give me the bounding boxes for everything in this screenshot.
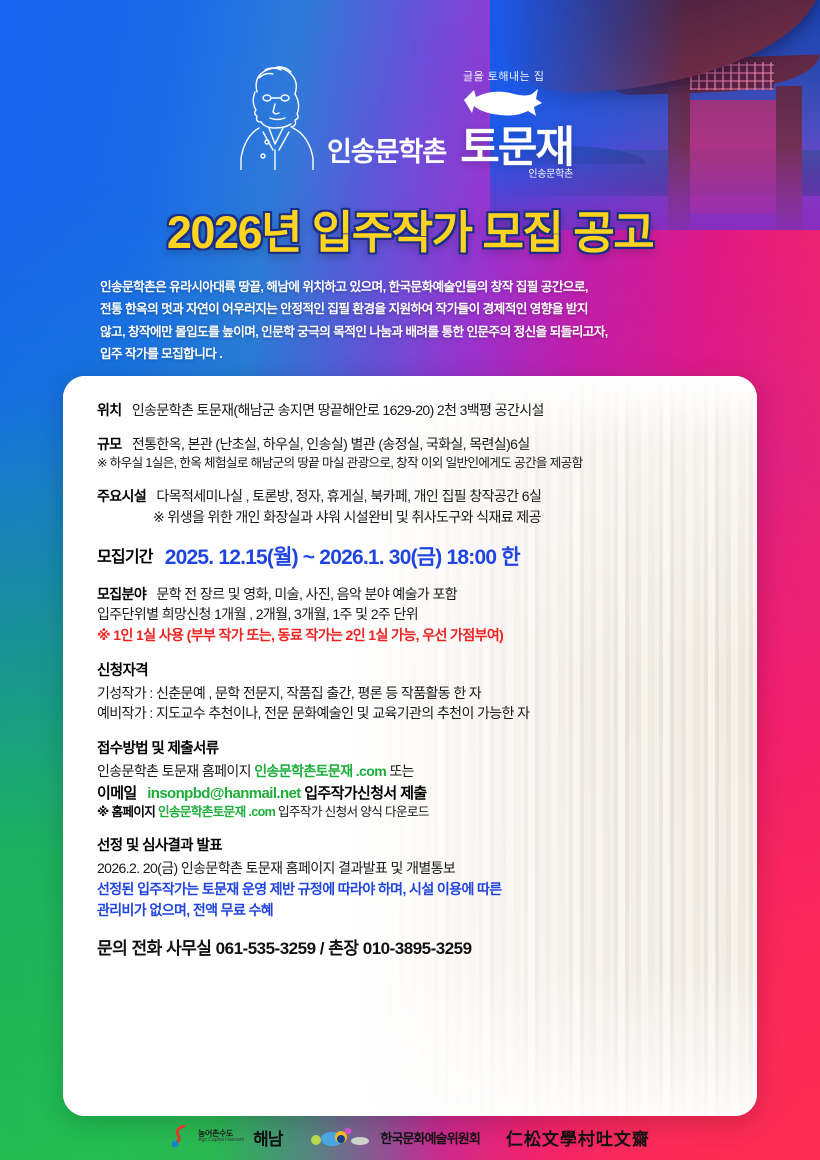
- section-result: 선정 및 심사결과 발표 2026.2. 20(금) 인송문학촌 토문재 홈페이…: [97, 834, 723, 920]
- haenam-text: 농어촌수도 Agri Capital Haenam: [198, 1130, 244, 1143]
- section-period: 모집기간 2025. 12.15(월) ~ 2026.1. 30(금) 18:0…: [97, 541, 723, 571]
- result-blue-line-2: 관리비가 없으며, 전액 무료 수혜: [97, 900, 723, 921]
- field-unit-line: 입주단위별 희망신청 1개월 , 2개월, 3개월, 1주 및 2주 단위: [97, 604, 723, 625]
- arko-label: 한국문화예술위원회: [380, 1128, 480, 1147]
- field-label: 모집분야: [97, 586, 146, 602]
- intro-line-3: 않고, 창작에만 몰입도를 높이며, 인문학 궁극의 목적인 나눔과 배려를 통…: [100, 321, 736, 343]
- result-line-1: 2026.2. 20(금) 인송문학촌 토문재 홈페이지 결과발표 및 개별통보: [97, 858, 723, 879]
- location-label: 위치: [97, 402, 122, 418]
- writer-portrait-icon: [215, 58, 335, 170]
- page-title: 2026년 입주작가 모집 공고: [0, 196, 820, 261]
- content-card: 위치 인송문학촌 토문재(해남군 송지면 땅끝해안로 1629-20) 2천 3…: [63, 376, 757, 1116]
- application-note-post: 입주작가 신청서 양식 다운로드: [275, 805, 429, 819]
- email-label: 이메일: [97, 785, 137, 802]
- section-location: 위치 인송문학촌 토문재(해남군 송지면 땅끝해안로 1629-20) 2천 3…: [97, 400, 723, 421]
- qualification-line-2: 예비작가 : 지도교수 추천이나, 전문 문화예술인 및 교육기관의 추천이 가…: [97, 703, 723, 724]
- intro-line-1: 인송문학촌은 유라시아대륙 땅끝, 해남에 위치하고 있으며, 한국문화예술인들…: [100, 276, 736, 298]
- scale-note: ※ 하우실 1실은, 한옥 체험실로 해남군의 땅끝 마실 관광으로, 창작 이…: [97, 454, 723, 473]
- period-line: 모집기간 2025. 12.15(월) ~ 2026.1. 30(금) 18:0…: [97, 541, 723, 571]
- card-content: 위치 인송문학촌 토문재(해남군 송지면 땅끝해안로 1629-20) 2천 3…: [63, 376, 757, 996]
- haenam-logo-icon: [170, 1125, 192, 1149]
- contact-separator: /: [320, 939, 324, 958]
- contact-line: 문의 전화 사무실 061-535-3259 / 촌장 010-3895-325…: [97, 934, 723, 959]
- facilities-value: 다목적세미나실 , 토론방, 정자, 휴게실, 북카페, 개인 집필 창작공간 …: [156, 488, 541, 504]
- result-blue-line-1: 선정된 입주작가는 토문재 운영 제반 규정에 따라야 하며, 시설 이용에 따…: [97, 879, 723, 900]
- application-note-line: ※ 홈페이지 인송문학촌토문재 .com 입주작가 신청서 양식 다운로드: [97, 803, 723, 822]
- scale-value: 전통한옥, 본관 (난초실, 하우실, 인송실) 별관 (송정실, 국화실, 목…: [132, 436, 530, 452]
- intro-paragraph: 인송문학촌은 유라시아대륙 땅끝, 해남에 위치하고 있으며, 한국문화예술인들…: [100, 276, 736, 366]
- qualification-heading: 신청자격: [97, 659, 723, 680]
- application-note-pre: ※ 홈페이지: [97, 805, 158, 819]
- scale-label: 규모: [97, 436, 122, 452]
- poster-root: 글을 토해내는 집 인송문학촌 토문재 인송문학촌 2026년 입주작가 모집 …: [0, 0, 820, 1160]
- arko-logo-icon: [308, 1127, 374, 1147]
- location-line: 위치 인송문학촌 토문재(해남군 송지면 땅끝해안로 1629-20) 2천 3…: [97, 400, 723, 421]
- contact-office-number[interactable]: 061-535-3259: [216, 939, 316, 958]
- qualification-line-1: 기성작가 : 신춘문예 , 문학 전문지, 작품집 출간, 평론 등 작품활동 …: [97, 683, 723, 704]
- fish-icon: [460, 86, 544, 120]
- haenam-big-label: 해남: [253, 1125, 282, 1150]
- application-website-url[interactable]: 인송문학촌토문재 .com: [254, 763, 386, 779]
- application-heading: 접수방법 및 제출서류: [97, 737, 723, 758]
- section-field: 모집분야 문학 전 장르 및 영화, 미술, 사진, 음악 분야 예술가 포함 …: [97, 584, 723, 646]
- application-email-line: 이메일 insonpbd@hanmail.net 입주작가신청서 제출: [97, 782, 723, 803]
- logo-text-row: 인송문학촌 토문재 인송문학촌: [327, 128, 573, 169]
- facilities-label: 주요시설: [97, 488, 146, 504]
- contact-director-label: 촌장: [328, 939, 358, 958]
- logo-name-box: 토문재 인송문학촌: [460, 128, 573, 169]
- facilities-line: 주요시설 다목적세미나실 , 토론방, 정자, 휴게실, 북카페, 개인 집필 …: [97, 486, 723, 507]
- section-facilities: 주요시설 다목적세미나실 , 토론방, 정자, 휴게실, 북카페, 개인 집필 …: [97, 486, 723, 527]
- application-website-pre: 인송문학촌 토문재 홈페이지: [97, 763, 254, 779]
- haenam-english: Agri Capital Haenam: [198, 1138, 244, 1143]
- application-website-line: 인송문학촌 토문재 홈페이지 인송문학촌토문재 .com 또는: [97, 761, 723, 782]
- facilities-note: ※ 위생을 위한 개인 화장실과 샤워 시설완비 및 취사도구와 식재료 제공: [97, 507, 723, 528]
- scale-line: 규모 전통한옥, 본관 (난초실, 하우실, 인송실) 별관 (송정실, 국화실…: [97, 434, 723, 455]
- contact-office-label: 문의 전화 사무실: [97, 939, 211, 958]
- section-contact: 문의 전화 사무실 061-535-3259 / 촌장 010-3895-325…: [97, 934, 723, 959]
- period-label: 모집기간: [97, 549, 153, 566]
- footer-logos: 농어촌수도 Agri Capital Haenam 해남 한국문화예술위원회 仁…: [0, 1114, 820, 1160]
- application-website-post: 또는: [386, 763, 414, 779]
- intro-line-4: 입주 작가를 모집합니다 .: [100, 343, 736, 365]
- logo-subtext: 인송문학촌: [528, 165, 573, 180]
- email-address[interactable]: insonpbd@hanmail.net: [147, 785, 300, 802]
- insong-hanja-logo: 仁松文學村吐文齋: [506, 1125, 650, 1150]
- section-scale: 규모 전통한옥, 본관 (난초실, 하우실, 인송실) 별관 (송정실, 국화실…: [97, 434, 723, 473]
- logo-tagline: 글을 토해내는 집: [463, 68, 544, 84]
- arko-logo: 한국문화예술위원회: [308, 1127, 480, 1147]
- intro-line-2: 전통 한옥의 멋과 자연이 어우러지는 안정적인 집필 환경을 지원하여 작가들…: [100, 298, 736, 320]
- period-value: 2025. 12.15(월) ~ 2026.1. 30(금) 18:00 한: [165, 546, 520, 569]
- application-note-url[interactable]: 인송문학촌토문재 .com: [158, 805, 275, 819]
- header-logo: 글을 토해내는 집 인송문학촌 토문재 인송문학촌: [215, 58, 615, 178]
- field-red-note: ※ 1인 1실 사용 (부부 작가 또는, 동료 작가는 2인 1실 가능, 우…: [97, 625, 723, 646]
- location-value: 인송문학촌 토문재(해남군 송지면 땅끝해안로 1629-20) 2천 3백평 …: [132, 402, 544, 418]
- field-value: 문학 전 장르 및 영화, 미술, 사진, 음악 분야 예술가 포함: [156, 586, 457, 602]
- haenam-logo: 농어촌수도 Agri Capital Haenam 해남: [170, 1125, 282, 1150]
- logo-prefix: 인송문학촌: [327, 130, 446, 169]
- field-line: 모집분야 문학 전 장르 및 영화, 미술, 사진, 음악 분야 예술가 포함: [97, 584, 723, 605]
- result-heading: 선정 및 심사결과 발표: [97, 834, 723, 855]
- contact-director-number[interactable]: 010-3895-3259: [363, 939, 472, 958]
- email-post: 입주작가신청서 제출: [304, 785, 426, 802]
- section-qualification: 신청자격 기성작가 : 신춘문예 , 문학 전문지, 작품집 출간, 평론 등 …: [97, 659, 723, 724]
- section-application: 접수방법 및 제출서류 인송문학촌 토문재 홈페이지 인송문학촌토문재 .com…: [97, 737, 723, 821]
